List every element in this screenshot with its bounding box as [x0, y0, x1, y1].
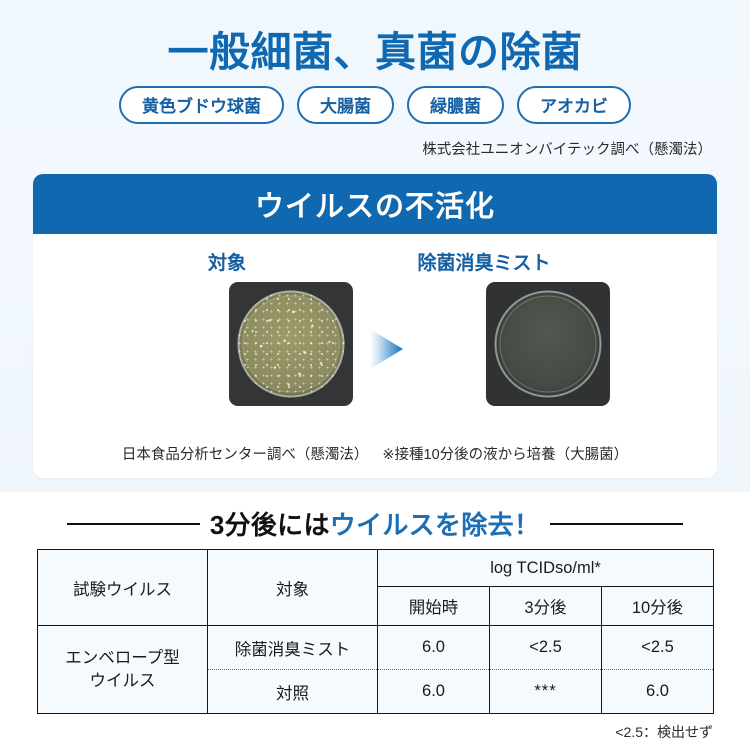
- pathogen-pill-2: 緑膿菌: [407, 86, 504, 124]
- cell-virus-line1: エンベロープ型: [39, 647, 206, 669]
- section-headline: 3分後にはウイルスを除去！: [210, 505, 540, 542]
- cell-target-mist: 除菌消臭ミスト: [208, 626, 378, 670]
- headline-prefix: 3分後には: [210, 510, 330, 540]
- table-header-row-1: 試験ウイルス 対象 log TCIDso/ml*: [38, 550, 714, 587]
- th-time-start: 開始時: [378, 587, 490, 626]
- arrow-right-icon: [370, 327, 404, 371]
- virus-results-table: 試験ウイルス 対象 log TCIDso/ml* 開始時 3分後 10分後 エン…: [37, 549, 714, 714]
- cell-virus-name: エンベロープ型 ウイルス: [38, 626, 208, 714]
- cell-control-3min: ***: [490, 670, 602, 714]
- source-note: 株式会社ユニオンバイテック調べ（懸濁法）: [422, 138, 712, 159]
- card-caption-main: 日本食品分析センター調べ（懸濁法）: [122, 447, 369, 463]
- th-time-10min: 10分後: [602, 587, 714, 626]
- section-headline-row: 3分後にはウイルスを除去！: [0, 505, 750, 542]
- th-log-tcid-group: log TCIDso/ml*: [378, 550, 714, 587]
- table-row: エンベロープ型 ウイルス 除菌消臭ミスト 6.0 <2.5 <2.5: [38, 626, 714, 670]
- cell-target-control: 対照: [208, 670, 378, 714]
- cell-mist-10min: <2.5: [602, 626, 714, 670]
- th-test-virus: 試験ウイルス: [38, 550, 208, 626]
- cell-control-start: 6.0: [378, 670, 490, 714]
- card-caption-sub: ※接種10分後の液から培養（大腸菌）: [382, 447, 628, 463]
- cell-mist-3min: <2.5: [490, 626, 602, 670]
- cell-virus-line2: ウイルス: [39, 670, 206, 692]
- dish-rim-inner: [243, 296, 340, 393]
- dish-label-treated-text: 除菌消臭ミスト: [417, 248, 550, 275]
- petri-dish-untreated-image: [238, 291, 345, 398]
- table-footnote: <2.5：検出せず: [615, 722, 713, 742]
- pathogen-pill-0: 黄色ブドウ球菌: [119, 86, 284, 124]
- petri-dish-treated-image: [495, 291, 602, 398]
- dish-rim-outer: [238, 291, 345, 398]
- petri-plate-treated: [486, 282, 610, 406]
- virus-card-header: ウイルスの不活化: [33, 174, 717, 234]
- petri-plate-control: [229, 282, 353, 406]
- page-title: 一般細菌、真菌の除菌: [0, 18, 750, 78]
- th-target: 対象: [208, 550, 378, 626]
- pathogen-pill-3: アオカビ: [517, 86, 631, 124]
- rule-right: [550, 523, 683, 525]
- cell-mist-start: 6.0: [378, 626, 490, 670]
- th-time-3min: 3分後: [490, 587, 602, 626]
- cell-control-10min: 6.0: [602, 670, 714, 714]
- dish-label-row: 対象 除菌消臭ミスト: [33, 248, 717, 274]
- rule-left: [67, 523, 200, 525]
- pathogen-pill-1: 大腸菌: [297, 86, 394, 124]
- card-caption: 日本食品分析センター調べ（懸濁法）※接種10分後の液から培養（大腸菌）: [33, 443, 717, 464]
- pathogen-pill-row: 黄色ブドウ球菌 大腸菌 緑膿菌 アオカビ: [0, 86, 750, 124]
- headline-emphasis: ウイルスを除去！: [330, 510, 540, 540]
- dish-rim-inner-treated: [500, 296, 597, 393]
- virus-inactivation-card: ウイルスの不活化 対象 除菌消臭ミスト: [33, 174, 717, 478]
- dish-label-control-text: 対象: [208, 248, 246, 275]
